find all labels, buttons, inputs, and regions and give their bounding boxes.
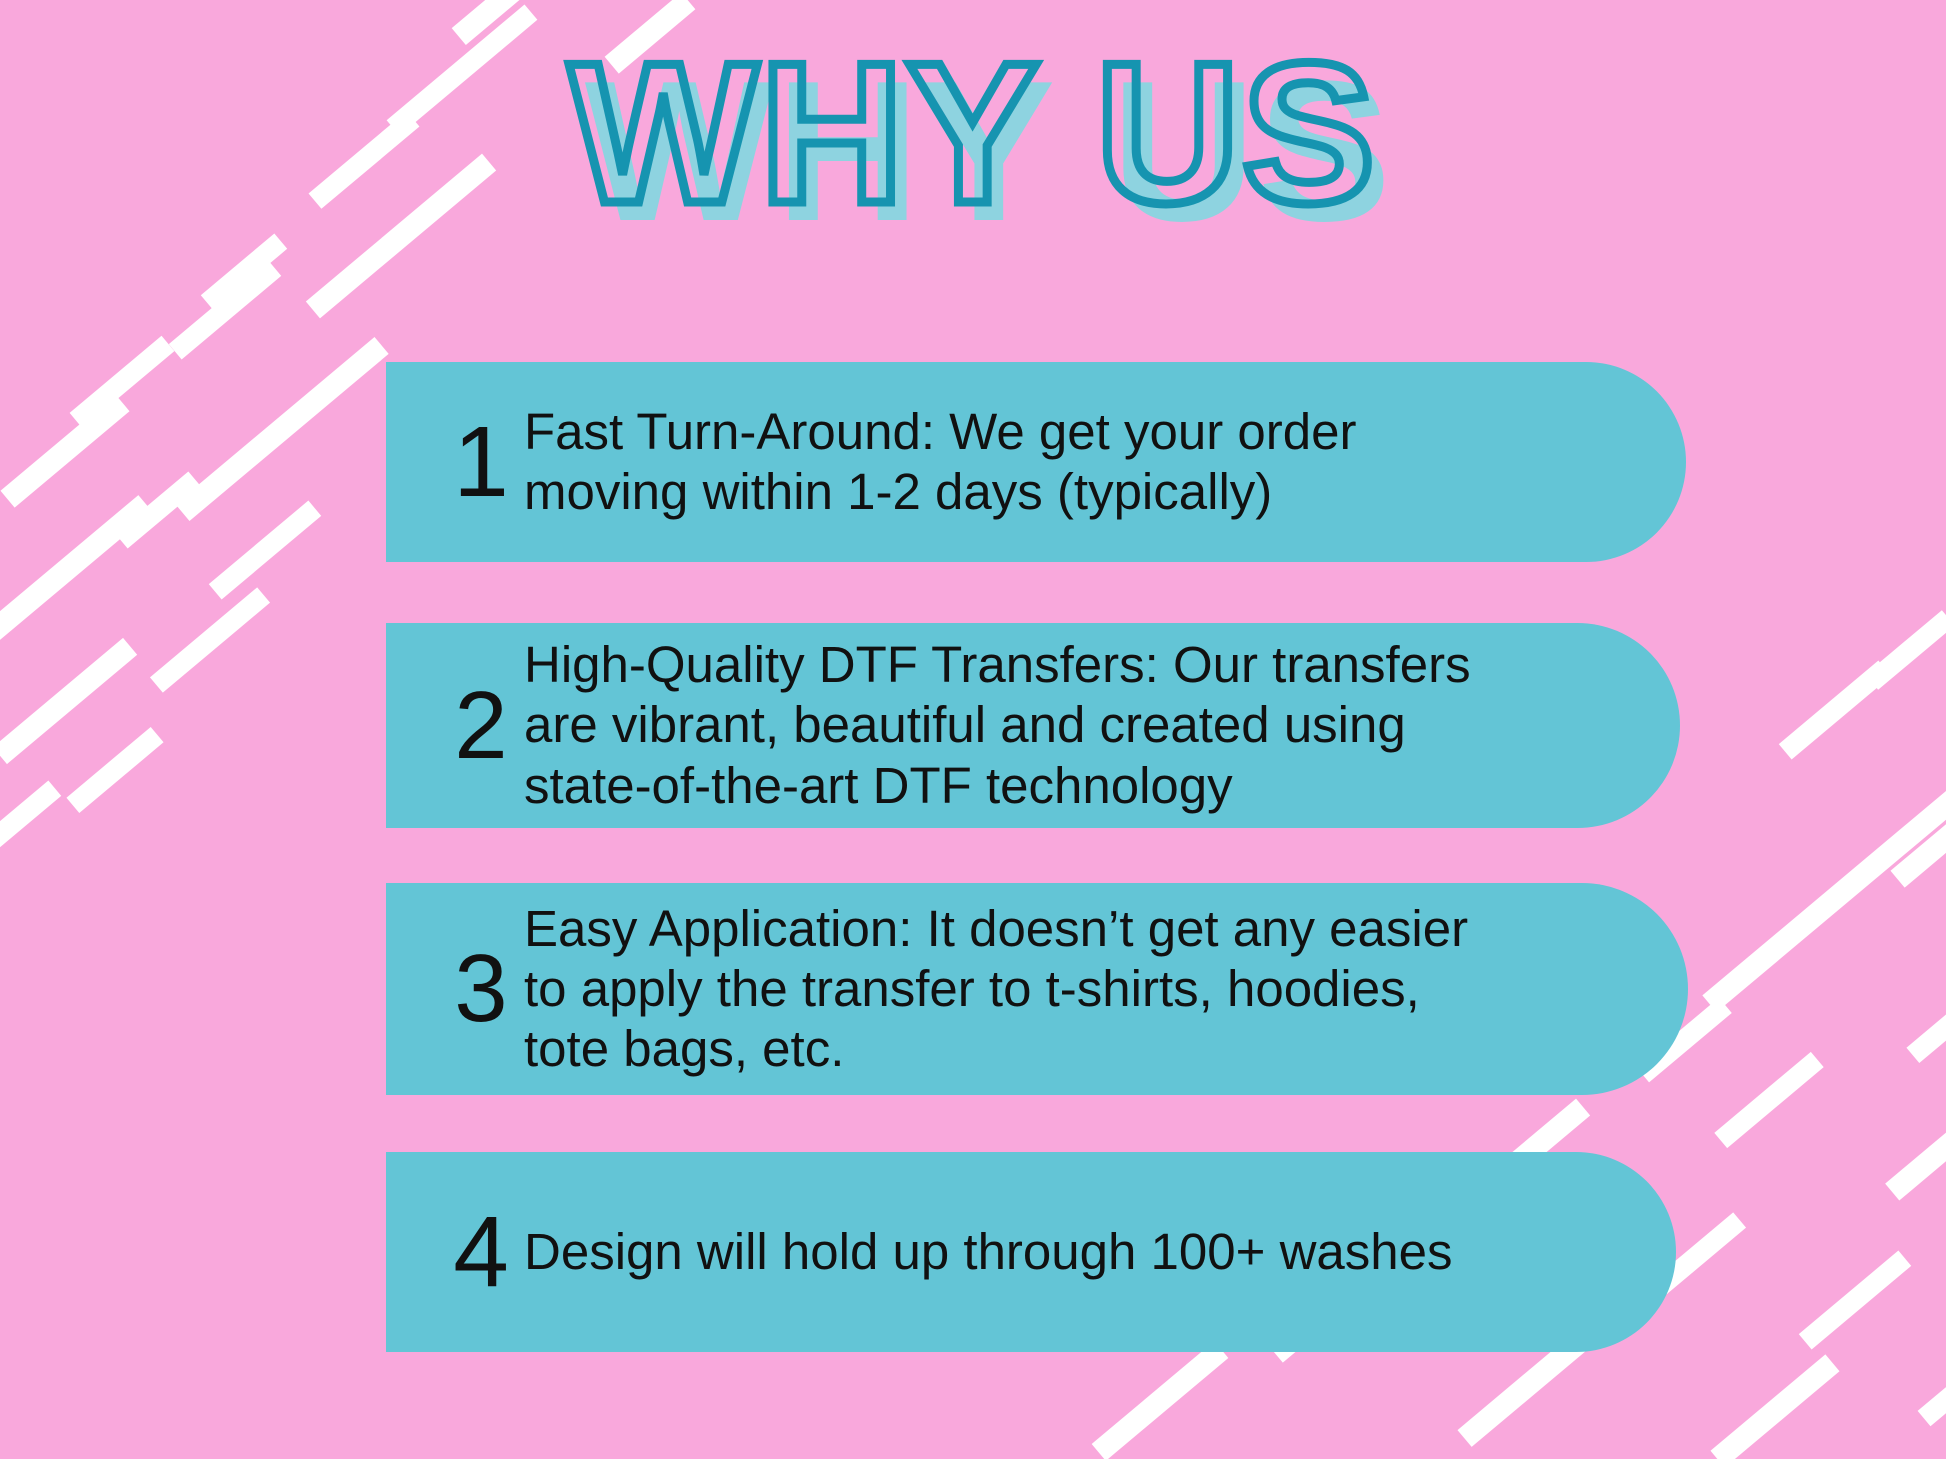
benefit-number: 3 <box>438 941 524 1037</box>
benefit-number: 2 <box>438 678 524 774</box>
benefit-text: Fast Turn-Around: We get your order movi… <box>524 402 1686 522</box>
benefit-number: 1 <box>438 412 524 512</box>
benefit-card: 4 Design will hold up through 100+ washe… <box>386 1152 1676 1352</box>
benefit-text-line: High-Quality DTF Transfers: Our transfer… <box>524 635 1640 695</box>
benefit-text: Design will hold up through 100+ washes <box>524 1222 1676 1282</box>
benefit-text-line: moving within 1-2 days (typically) <box>524 462 1646 522</box>
benefit-card-list: 1 Fast Turn-Around: We get your order mo… <box>0 0 1946 1459</box>
benefit-text-line: are vibrant, beautiful and created using <box>524 695 1640 755</box>
benefit-card: 3 Easy Application: It doesn’t get any e… <box>386 883 1688 1095</box>
benefit-text-line: state-of-the-art DTF technology <box>524 756 1640 816</box>
benefit-number: 4 <box>438 1202 524 1302</box>
why-us-poster: WHY US WHY US 1 Fast Turn-Around: We get… <box>0 0 1946 1459</box>
benefit-card: 1 Fast Turn-Around: We get your order mo… <box>386 362 1686 562</box>
benefit-text: High-Quality DTF Transfers: Our transfer… <box>524 635 1680 816</box>
benefit-text-line: tote bags, etc. <box>524 1019 1648 1079</box>
benefit-text-line: Design will hold up through 100+ washes <box>524 1222 1636 1282</box>
benefit-text-line: Fast Turn-Around: We get your order <box>524 402 1646 462</box>
benefit-text-line: to apply the transfer to t-shirts, hoodi… <box>524 959 1648 1019</box>
benefit-text-line: Easy Application: It doesn’t get any eas… <box>524 899 1648 959</box>
benefit-text: Easy Application: It doesn’t get any eas… <box>524 899 1688 1080</box>
benefit-card: 2 High-Quality DTF Transfers: Our transf… <box>386 623 1680 828</box>
